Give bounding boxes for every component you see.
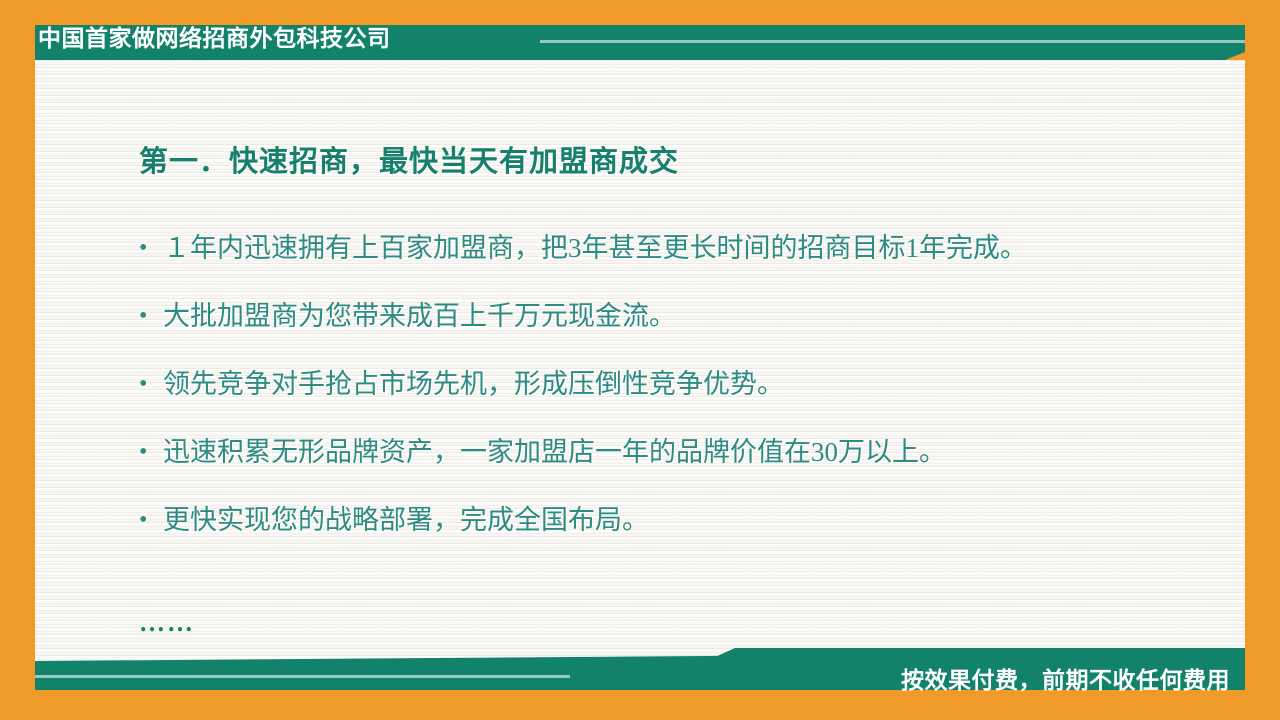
list-item: • 领先竞争对手抢占市场先机，形成压倒性竞争优势。 — [139, 368, 1229, 401]
list-item-text: １年内迅速拥有上百家加盟商，把3年甚至更长时间的招商目标1年完成。 — [163, 232, 1229, 265]
header-right-band — [452, 25, 1245, 60]
header-rule-line — [540, 40, 1245, 43]
page-title: 第一．快速招商，最快当天有加盟商成交 — [139, 138, 679, 180]
ellipsis-text: …… — [139, 610, 195, 636]
list-item: • １年内迅速拥有上百家加盟商，把3年甚至更长时间的招商目标1年完成。 — [139, 232, 1229, 265]
list-item-text: 更快实现您的战略部署，完成全国布局。 — [163, 504, 1229, 537]
header-title: 中国首家做网络招商外包科技公司 — [38, 27, 391, 50]
list-item-text: 大批加盟商为您带来成百上千万元现金流。 — [163, 300, 1229, 333]
bullet-list: • １年内迅速拥有上百家加盟商，把3年甚至更长时间的招商目标1年完成。 • 大批… — [139, 232, 1229, 572]
list-item: • 大批加盟商为您带来成百上千万元现金流。 — [139, 300, 1229, 333]
list-item: • 迅速积累无形品牌资产，一家加盟店一年的品牌价值在30万以上。 — [139, 436, 1229, 469]
slide: 中国首家做网络招商外包科技公司 第一．快速招商，最快当天有加盟商成交 • １年内… — [0, 0, 1280, 720]
slide-content: 第一．快速招商，最快当天有加盟商成交 • １年内迅速拥有上百家加盟商，把3年甚至… — [35, 60, 1245, 685]
bullet-marker-icon: • — [139, 232, 163, 264]
footer-tagline: 按效果付费，前期不收任何费用 — [901, 669, 1230, 692]
bullet-marker-icon: • — [139, 504, 163, 536]
list-item-text: 迅速积累无形品牌资产，一家加盟店一年的品牌价值在30万以上。 — [163, 436, 1229, 469]
bullet-marker-icon: • — [139, 436, 163, 468]
bullet-marker-icon: • — [139, 300, 163, 332]
bullet-marker-icon: • — [139, 368, 163, 400]
list-item: • 更快实现您的战略部署，完成全国布局。 — [139, 504, 1229, 537]
list-item-text: 领先竞争对手抢占市场先机，形成压倒性竞争优势。 — [163, 368, 1229, 401]
